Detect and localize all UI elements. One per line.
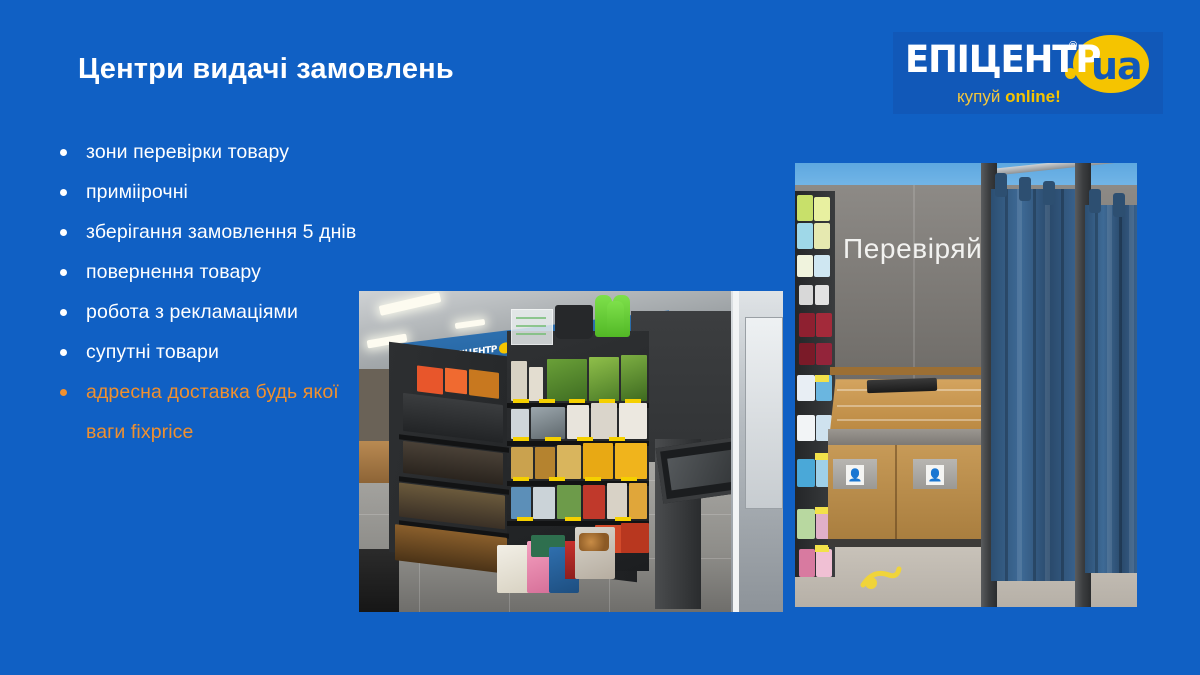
product — [799, 549, 815, 577]
bullet-dot-icon — [60, 149, 67, 156]
floor-marking-icon — [859, 563, 903, 593]
product — [591, 403, 617, 439]
price-tag — [815, 507, 829, 514]
wall-slogan-text: Перевіряй — [843, 233, 982, 265]
product — [797, 195, 813, 221]
fitting-room-curtain — [991, 189, 1075, 581]
bullet-dot-icon — [60, 229, 67, 236]
curtain-tab — [995, 173, 1007, 197]
product — [533, 487, 555, 519]
dog-food-bag — [575, 527, 615, 579]
logo-tagline: купуй online! — [957, 87, 1061, 107]
product — [629, 483, 647, 519]
price-tag — [815, 545, 829, 552]
price-tag — [577, 437, 593, 441]
price-tag — [599, 399, 615, 403]
counter-back-panel — [830, 367, 992, 375]
door-frame — [733, 291, 739, 612]
product — [814, 197, 830, 221]
price-tag — [513, 437, 529, 441]
curtain-tab — [1043, 181, 1055, 205]
product — [797, 375, 815, 401]
counter-rail — [837, 405, 985, 407]
product — [619, 403, 647, 439]
photo-fitting-rooms: Перевіряй — [795, 163, 1137, 607]
bullet-dot-icon — [60, 269, 67, 276]
price-tag — [615, 517, 631, 521]
product — [816, 549, 832, 577]
product — [621, 355, 647, 401]
curtain-tab — [1089, 189, 1101, 213]
product — [797, 223, 813, 249]
price-tag — [545, 437, 561, 441]
list-item-label: зони перевірки товару — [86, 141, 289, 163]
price-tag — [621, 477, 637, 481]
curtain-tab — [1019, 177, 1031, 201]
product — [511, 361, 527, 401]
feature-bullet-list: зони перевірки товару приміірочні зберіг… — [54, 132, 364, 452]
product — [535, 447, 555, 479]
bullet-dot-icon — [60, 349, 67, 356]
product — [799, 343, 815, 365]
price-tag — [539, 399, 555, 403]
list-item: повернення товару — [54, 252, 364, 292]
product — [547, 359, 587, 401]
list-item: зони перевірки товару — [54, 132, 364, 172]
fitting-room-curtain — [1085, 205, 1137, 573]
plastic-crate — [511, 309, 553, 345]
product — [621, 523, 649, 553]
product — [511, 447, 533, 479]
bullet-dot-icon — [60, 389, 67, 396]
curtain-tab — [1113, 193, 1125, 217]
product — [815, 285, 829, 305]
product — [445, 368, 467, 395]
cabinet-divider — [895, 445, 897, 543]
product — [797, 255, 813, 277]
barcode-scanner-device — [867, 378, 937, 393]
green-bottle — [607, 301, 624, 337]
product — [557, 485, 581, 519]
list-item-label: повернення товару — [86, 261, 261, 283]
person-pictogram-icon: 👤 — [926, 465, 944, 485]
product — [557, 445, 581, 479]
product — [799, 285, 813, 305]
product — [583, 443, 613, 479]
floor-marking-svg — [859, 563, 903, 593]
price-tag — [517, 517, 533, 521]
counter-worktop — [828, 429, 996, 445]
product — [567, 405, 589, 439]
floor-boxes — [359, 549, 399, 612]
price-tag — [565, 517, 581, 521]
price-tag — [569, 399, 585, 403]
product — [417, 365, 443, 394]
slide-canvas: Центри видачі замовлень зони перевірки т… — [0, 0, 1200, 675]
list-item: робота з рекламаціями — [54, 292, 364, 332]
photo-store-aisle: ЕПІЦЕНТР — [359, 291, 783, 612]
product — [589, 357, 619, 401]
list-item: зберігання замовлення 5 днів — [54, 212, 364, 252]
door-poster — [745, 317, 783, 509]
cabinet-base — [828, 539, 996, 547]
person-pictogram-icon: 👤 — [846, 465, 864, 485]
list-item-label: приміірочні — [86, 181, 188, 203]
black-bin — [555, 305, 593, 339]
page-title: Центри видачі замовлень — [78, 52, 778, 87]
epicentr-logo: ЕПІЦЕНТР ® ua купуй online! — [893, 32, 1163, 114]
product — [797, 415, 815, 441]
counter-rail — [837, 419, 985, 421]
product — [799, 313, 815, 337]
product — [615, 443, 647, 479]
product — [797, 509, 815, 539]
price-tag — [815, 453, 829, 460]
price-tag — [513, 477, 529, 481]
product — [531, 407, 565, 439]
bullet-dot-icon — [60, 309, 67, 316]
price-tag — [549, 477, 565, 481]
logo-domain-text: ua — [1091, 44, 1142, 88]
product — [816, 313, 832, 337]
price-tag — [585, 477, 601, 481]
price-tag — [609, 437, 625, 441]
list-item: супутні товари — [54, 332, 364, 372]
product — [814, 255, 830, 277]
list-item-label: адресна доставка будь якої ваги fixprice — [86, 381, 339, 443]
logo-tagline-bold: online! — [1005, 87, 1061, 106]
list-item: приміірочні — [54, 172, 364, 212]
registered-trademark-icon: ® — [1069, 40, 1077, 52]
list-item-label: зберігання замовлення 5 днів — [86, 221, 356, 243]
bullet-dot-icon — [60, 189, 67, 196]
product — [797, 459, 815, 487]
list-item-highlighted: адресна доставка будь якої ваги fixprice — [54, 372, 364, 452]
list-item-label: робота з рекламаціями — [86, 301, 298, 323]
product — [816, 343, 832, 365]
product — [529, 367, 543, 401]
product-bag — [497, 545, 531, 593]
logo-tagline-light: купуй — [957, 87, 1000, 106]
price-tag — [815, 375, 829, 382]
price-tag — [513, 399, 529, 403]
product — [469, 369, 499, 399]
product — [607, 483, 627, 519]
product — [814, 223, 830, 249]
product — [511, 409, 529, 439]
price-tag — [625, 399, 641, 403]
product — [583, 485, 605, 519]
list-item-label: супутні товари — [86, 341, 219, 363]
product — [511, 487, 531, 519]
